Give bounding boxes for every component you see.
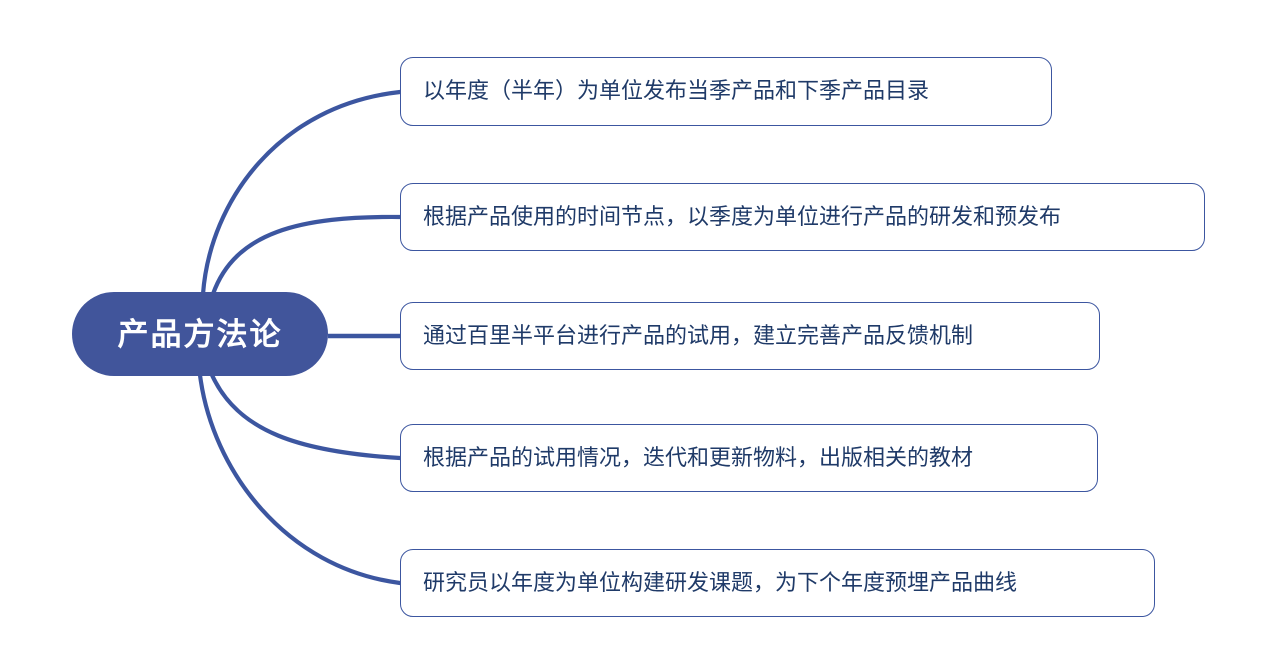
connector-branch-4 (212, 375, 400, 458)
mind-map-canvas: 产品方法论 以年度（半年）为单位发布当季产品和下季产品目录 根据产品使用的时间节… (0, 0, 1268, 668)
central-topic-node[interactable]: 产品方法论 (72, 292, 328, 376)
branch-node-1[interactable]: 以年度（半年）为单位发布当季产品和下季产品目录 (400, 57, 1052, 126)
branch-node-3[interactable]: 通过百里半平台进行产品的试用，建立完善产品反馈机制 (400, 302, 1100, 370)
central-topic-label: 产品方法论 (118, 319, 283, 350)
branch-label-3: 通过百里半平台进行产品的试用，建立完善产品反馈机制 (401, 323, 973, 349)
branch-label-4: 根据产品的试用情况，迭代和更新物料，出版相关的教材 (401, 445, 973, 471)
branch-label-5: 研究员以年度为单位构建研发课题，为下个年度预埋产品曲线 (401, 570, 1017, 596)
branch-node-5[interactable]: 研究员以年度为单位构建研发课题，为下个年度预埋产品曲线 (400, 549, 1155, 617)
branch-label-2: 根据产品使用的时间节点，以季度为单位进行产品的研发和预发布 (401, 204, 1061, 230)
branch-label-1: 以年度（半年）为单位发布当季产品和下季产品目录 (401, 78, 929, 104)
connector-branch-5 (200, 375, 400, 583)
connector-branch-1 (203, 92, 400, 294)
branch-node-4[interactable]: 根据产品的试用情况，迭代和更新物料，出版相关的教材 (400, 424, 1098, 492)
branch-node-2[interactable]: 根据产品使用的时间节点，以季度为单位进行产品的研发和预发布 (400, 183, 1205, 251)
connector-branch-2 (213, 217, 400, 294)
